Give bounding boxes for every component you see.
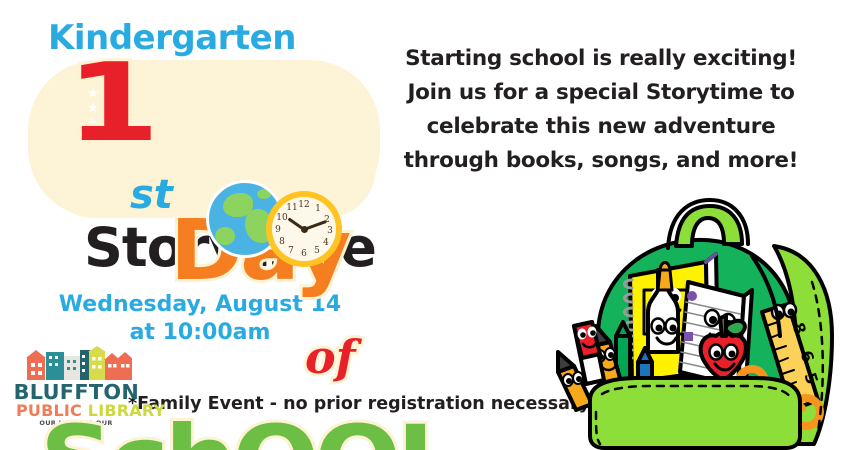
clock-icon: 12 1 2 3 4 5 6 7 8 9 10 11 (266, 191, 342, 267)
logo-word-of: of (305, 330, 675, 384)
logo-numeral-one: 1 (66, 54, 529, 154)
poster-canvas: Kindergarten 1 ★★★ st Day of SchOOL 12 1… (0, 0, 860, 450)
first-day-of-school-logo: 1 ★★★ st Day of SchOOL 12 1 2 3 4 5 6 7 … (18, 52, 388, 222)
skyline-houses-icon (22, 346, 132, 380)
logo-word-school: SchOOL (40, 414, 440, 450)
backpack-illustration: 8 6 5 (556, 186, 860, 450)
